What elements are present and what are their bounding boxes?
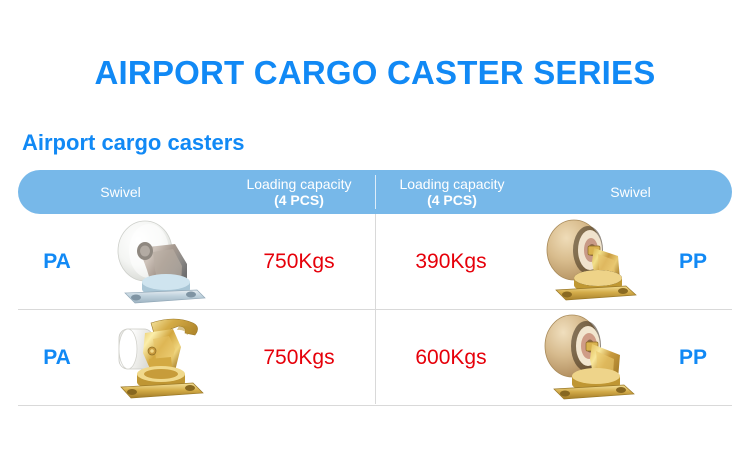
column-header-swivel-right: Swivel xyxy=(528,170,732,214)
column-header-label: Swivel xyxy=(610,184,650,200)
capacity-cell-left: 750Kgs xyxy=(223,214,375,309)
capacity-cell-left: 750Kgs xyxy=(223,310,375,405)
table-row: PA xyxy=(18,310,732,406)
header-divider xyxy=(375,175,376,209)
column-header-sublabel: (4 PCS) xyxy=(246,192,351,208)
column-header-label: Loading capacity xyxy=(246,176,351,192)
column-header-capacity-right: Loading capacity (4 PCS) xyxy=(376,170,528,214)
material-cell-left: PA xyxy=(18,310,96,405)
column-header-label: Loading capacity xyxy=(399,176,504,192)
page-title: AIRPORT CARGO CASTER SERIES xyxy=(0,53,750,93)
material-label: PP xyxy=(679,250,707,274)
column-header-sublabel: (4 PCS) xyxy=(399,192,504,208)
capacity-cell-right: 600Kgs xyxy=(375,310,527,405)
caster-white-nylon-gold-brake-icon xyxy=(109,313,211,403)
column-header-capacity-left: Loading capacity (4 PCS) xyxy=(223,170,375,214)
caster-white-nylon-zinc-plate-icon xyxy=(109,218,211,306)
caster-image-cell-right xyxy=(527,310,654,405)
material-cell-right: PP xyxy=(654,214,732,309)
material-cell-right: PP xyxy=(654,310,732,405)
material-label: PP xyxy=(679,346,707,370)
capacity-cell-right: 390Kgs xyxy=(375,214,527,309)
table-header-row: Swivel Loading capacity (4 PCS) Loading … xyxy=(18,170,732,214)
material-label: PA xyxy=(43,250,71,274)
column-header-text: Loading capacity (4 PCS) xyxy=(246,176,351,208)
capacity-value: 750Kgs xyxy=(263,250,334,274)
material-label: PA xyxy=(43,346,71,370)
caster-tan-pp-gold-plate-icon xyxy=(540,218,642,306)
material-cell-left: PA xyxy=(18,214,96,309)
capacity-value: 600Kgs xyxy=(415,346,486,370)
caster-image-cell-right xyxy=(527,214,654,309)
capacity-value: 390Kgs xyxy=(415,250,486,274)
table-body: PA xyxy=(18,214,732,406)
caster-image-cell-left xyxy=(96,310,223,405)
section-subtitle: Airport cargo casters xyxy=(22,129,245,157)
caster-image-cell-left xyxy=(96,214,223,309)
product-spec-page: AIRPORT CARGO CASTER SERIES Airport carg… xyxy=(0,0,750,455)
column-header-swivel-left: Swivel xyxy=(18,170,223,214)
table-row: PA xyxy=(18,214,732,310)
caster-tan-pp-gold-swivel-icon xyxy=(540,313,642,403)
column-header-text: Loading capacity (4 PCS) xyxy=(399,176,504,208)
capacity-value: 750Kgs xyxy=(263,346,334,370)
column-header-label: Swivel xyxy=(100,184,140,200)
spec-table: Swivel Loading capacity (4 PCS) Loading … xyxy=(18,170,732,406)
